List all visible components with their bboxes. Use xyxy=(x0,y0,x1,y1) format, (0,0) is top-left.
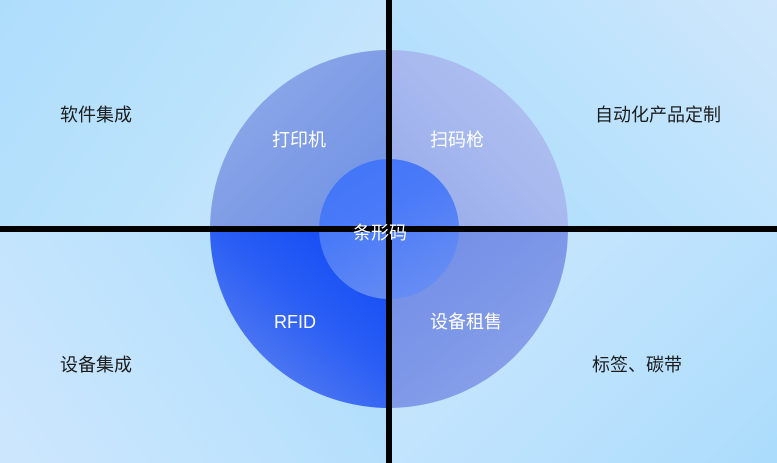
quadrant-label-automation-customization: 自动化产品定制 xyxy=(595,106,721,124)
quadrant-label-device-integration: 设备集成 xyxy=(60,356,132,374)
quadrant-label-labels-ribbons: 标签、碳带 xyxy=(592,356,682,374)
wedge-label-equipment-rental: 设备租售 xyxy=(430,313,502,331)
quadrant-label-software-integration: 软件集成 xyxy=(60,106,132,124)
center-circle-label: 条形码 xyxy=(353,224,407,242)
wedge-label-scanner: 扫码枪 xyxy=(430,131,484,149)
diagram-canvas: 条形码 打印机 扫码枪 RFID 设备租售 软件集成 自动化产品定制 设备集成 … xyxy=(0,0,777,463)
wedge-label-rfid: RFID xyxy=(274,313,316,331)
wedge-label-printer: 打印机 xyxy=(272,131,326,149)
